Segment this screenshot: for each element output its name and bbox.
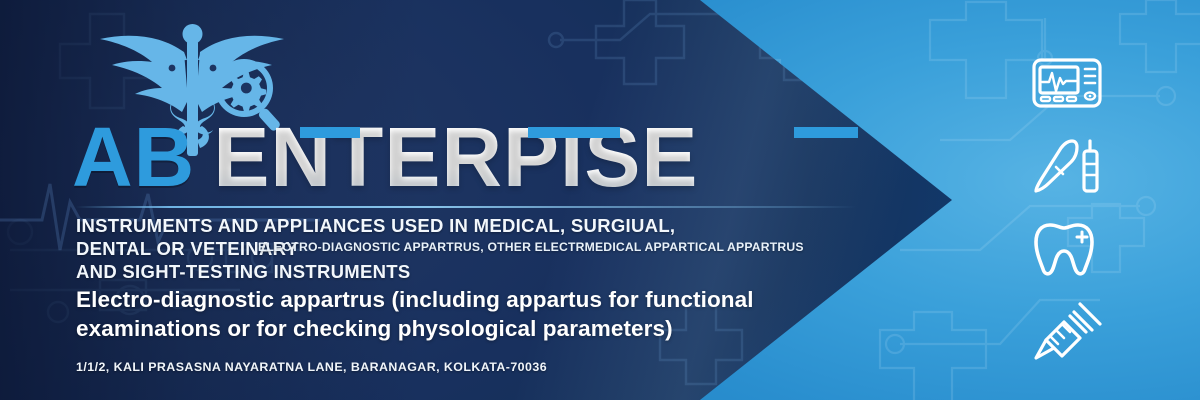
scalpel-tools-icon: [1030, 135, 1104, 197]
banner-root: ABENTERPISE INSTRUMENTS AND APPLIANCES U…: [0, 0, 1200, 400]
paragraph-block: Electro-diagnostic appartrus (including …: [76, 286, 876, 344]
brand-name-secondary: ENTERPISE: [213, 110, 698, 204]
brand-title: ABENTERPISE: [72, 118, 698, 198]
tooth-icon: [1030, 217, 1104, 279]
address-text: 1/1/2, KALI PRASASNA NAYARATNA LANE, BAR…: [76, 360, 547, 374]
paragraph-line-1: Electro-diagnostic appartrus (including …: [76, 286, 876, 315]
description-line-1: INSTRUMENTS AND APPLIANCES USED IN MEDIC…: [76, 214, 876, 237]
title-divider-rule: [76, 206, 856, 208]
description-block: INSTRUMENTS AND APPLIANCES USED IN MEDIC…: [76, 214, 876, 283]
brand-name-primary: AB: [72, 110, 195, 204]
description-line-3: AND SIGHT-TESTING INSTRUMENTS: [76, 260, 876, 283]
syringe-icon: [1030, 300, 1104, 362]
icon-column: [1022, 52, 1112, 362]
ecg-monitor-icon: [1030, 52, 1104, 114]
paragraph-line-2: examinations or for checking physologica…: [76, 315, 876, 344]
description-overlay-line: ELECTRO-DIAGNOSTIC APPARTRUS, OTHER ELEC…: [258, 240, 804, 254]
